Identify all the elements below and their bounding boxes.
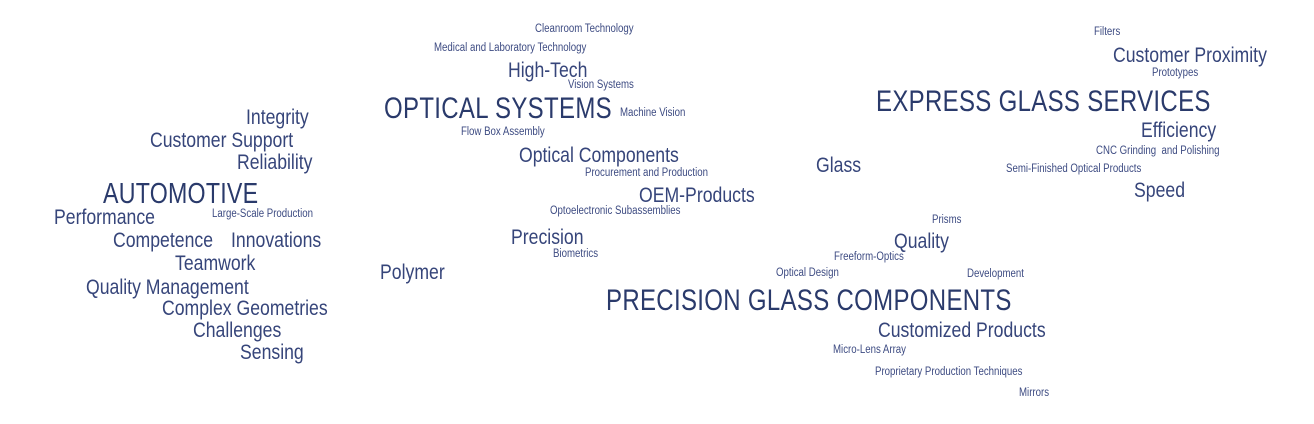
cloud-word-w28: Filters bbox=[1094, 27, 1120, 39]
cloud-word-w42: PRECISION GLASS COMPONENTS bbox=[606, 286, 1012, 316]
cloud-word-w25: Precision bbox=[511, 227, 584, 248]
cloud-word-w17: Vision Systems bbox=[568, 80, 634, 92]
cloud-word-w02: Customer Support bbox=[150, 130, 293, 151]
cloud-word-w01: Integrity bbox=[246, 107, 309, 128]
cloud-word-w26: Biometrics bbox=[553, 249, 598, 261]
cloud-word-w18: OPTICAL SYSTEMS bbox=[384, 94, 612, 124]
cloud-word-w35: Semi-Finished Optical Products bbox=[1006, 164, 1141, 176]
cloud-word-w41: Development bbox=[967, 269, 1024, 281]
cloud-word-w07: Competence bbox=[113, 230, 213, 251]
cloud-word-w08: Innovations bbox=[231, 230, 321, 251]
cloud-word-w24: Optoelectronic Subassemblies bbox=[550, 206, 680, 218]
cloud-word-w16: High-Tech bbox=[508, 60, 587, 81]
cloud-word-w29: Customer Proximity bbox=[1113, 45, 1267, 66]
cloud-word-w39: Freeform-Optics bbox=[834, 252, 904, 264]
cloud-word-w09: Teamwork bbox=[175, 253, 255, 274]
cloud-word-w38: Quality bbox=[894, 231, 949, 252]
cloud-word-w15: Medical and Laboratory Technology bbox=[434, 43, 586, 55]
cloud-word-w33: CNC Grinding and Polishing bbox=[1096, 146, 1220, 158]
cloud-word-w40: Optical Design bbox=[776, 268, 839, 280]
cloud-word-w13: Sensing bbox=[240, 342, 304, 363]
cloud-word-w10: Quality Management bbox=[86, 277, 249, 298]
cloud-word-w22: Procurement and Production bbox=[585, 168, 708, 180]
cloud-word-w27: Polymer bbox=[380, 262, 445, 283]
cloud-word-w12: Challenges bbox=[193, 320, 281, 341]
cloud-word-w03: Reliability bbox=[237, 152, 312, 173]
cloud-word-w06: Large-Scale Production bbox=[212, 209, 313, 221]
cloud-word-w04: AUTOMOTIVE bbox=[103, 180, 258, 209]
cloud-word-w23: OEM-Products bbox=[639, 185, 755, 206]
cloud-word-w11: Complex Geometries bbox=[162, 298, 328, 319]
word-cloud: IntegrityCustomer SupportReliabilityAUTO… bbox=[0, 0, 1314, 424]
cloud-word-w43: Customized Products bbox=[878, 320, 1046, 341]
cloud-word-w32: Efficiency bbox=[1141, 120, 1216, 141]
cloud-word-w46: Mirrors bbox=[1019, 388, 1049, 400]
cloud-word-w21: Optical Components bbox=[519, 145, 679, 166]
cloud-word-w05: Performance bbox=[54, 207, 155, 228]
cloud-word-w20: Flow Box Assembly bbox=[461, 127, 545, 139]
cloud-word-w44: Micro-Lens Array bbox=[833, 345, 906, 357]
cloud-word-w30: Prototypes bbox=[1152, 68, 1198, 80]
cloud-word-w31: EXPRESS GLASS SERVICES bbox=[876, 87, 1211, 117]
cloud-word-w34: Glass bbox=[816, 155, 861, 176]
cloud-word-w37: Prisms bbox=[932, 215, 962, 227]
cloud-word-w45: Proprietary Production Techniques bbox=[875, 367, 1022, 379]
cloud-word-w19: Machine Vision bbox=[620, 108, 685, 120]
cloud-word-w36: Speed bbox=[1134, 180, 1185, 201]
cloud-word-w14: Cleanroom Technology bbox=[535, 24, 634, 36]
